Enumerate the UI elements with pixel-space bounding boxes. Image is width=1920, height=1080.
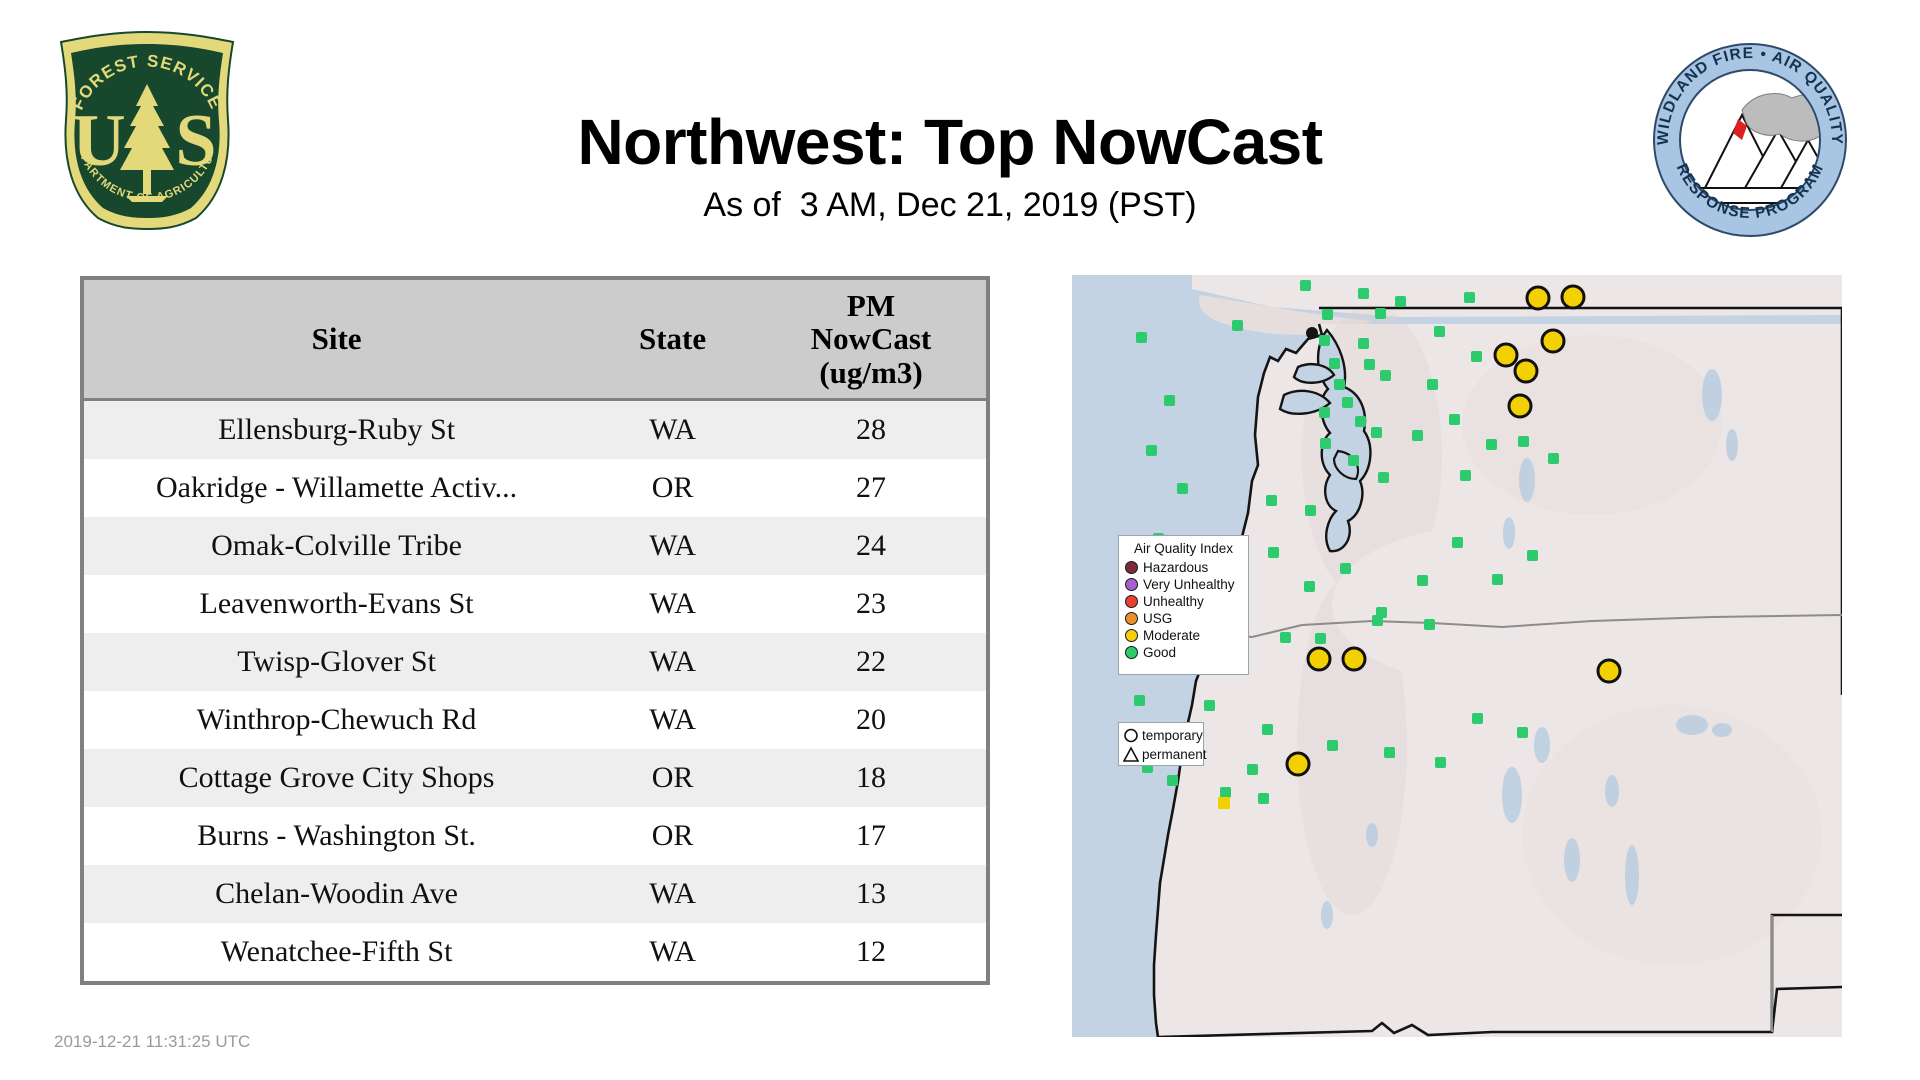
aqi-legend-item: USG: [1125, 610, 1242, 627]
table-header-row: Site State PM NowCast (ug/m3): [84, 280, 986, 400]
cell-site: Wenatchee-Fifth St: [84, 923, 589, 981]
good-monitor-marker[interactable]: [1204, 700, 1215, 711]
monitor-map[interactable]: Air Quality Index HazardousVery Unhealth…: [1072, 275, 1842, 1037]
table-row[interactable]: Chelan-Woodin AveWA13: [84, 865, 986, 923]
good-monitor-marker[interactable]: [1266, 495, 1277, 506]
good-monitor-marker[interactable]: [1518, 436, 1529, 447]
symbol-legend-temporary-label: temporary: [1142, 728, 1203, 743]
good-monitor-marker[interactable]: [1376, 607, 1387, 618]
aqi-legend-item: Hazardous: [1125, 559, 1242, 576]
table-row[interactable]: Burns - Washington St.OR17: [84, 807, 986, 865]
cell-state: OR: [589, 807, 756, 865]
page-subtitle: As of 3 AM, Dec 21, 2019 (PST): [260, 186, 1640, 225]
aqi-legend-label: Very Unhealthy: [1143, 576, 1235, 593]
moderate-monitor-marker[interactable]: [1542, 330, 1564, 352]
cell-value: 17: [756, 807, 986, 865]
good-monitor-marker[interactable]: [1417, 575, 1428, 586]
moderate-monitor-marker[interactable]: [1562, 286, 1584, 308]
cell-state: WA: [589, 691, 756, 749]
page-header: FOREST SERVICE DEPARTMENT OF AGRICULTURE…: [0, 0, 1920, 262]
column-header-state: State: [589, 280, 756, 400]
table-header: Site State PM NowCast (ug/m3): [84, 280, 986, 400]
cell-state: WA: [589, 400, 756, 460]
column-header-pm-line2: NowCast: [756, 322, 986, 355]
table-row[interactable]: Omak-Colville TribeWA24: [84, 517, 986, 575]
good-monitor-marker[interactable]: [1434, 326, 1445, 337]
cell-site: Burns - Washington St.: [84, 807, 589, 865]
good-monitor-marker[interactable]: [1146, 445, 1157, 456]
cell-value: 28: [756, 400, 986, 460]
aqi-swatch-icon: [1125, 595, 1138, 608]
good-monitor-marker[interactable]: [1471, 351, 1482, 362]
good-monitor-marker[interactable]: [1449, 414, 1460, 425]
good-monitor-marker[interactable]: [1327, 740, 1338, 751]
good-monitor-marker[interactable]: [1232, 320, 1243, 331]
column-header-pm-line1: PM: [756, 289, 986, 322]
cell-value: 22: [756, 633, 986, 691]
column-header-pm-nowcast: PM NowCast (ug/m3): [756, 280, 986, 400]
table-row[interactable]: Leavenworth-Evans StWA23: [84, 575, 986, 633]
good-monitor-marker[interactable]: [1358, 338, 1369, 349]
shield-letter-u: U: [72, 100, 125, 182]
good-monitor-marker[interactable]: [1320, 438, 1331, 449]
cell-site: Omak-Colville Tribe: [84, 517, 589, 575]
good-monitor-marker[interactable]: [1220, 787, 1231, 798]
moderate-small-marker[interactable]: [1218, 797, 1230, 809]
good-monitor-marker[interactable]: [1412, 430, 1423, 441]
cell-site: Twisp-Glover St: [84, 633, 589, 691]
aqi-legend-label: Good: [1143, 644, 1176, 661]
aqi-legend-label: Unhealthy: [1143, 593, 1204, 610]
table-row[interactable]: Twisp-Glover StWA22: [84, 633, 986, 691]
good-monitor-marker[interactable]: [1305, 505, 1316, 516]
symbol-legend-permanent: permanent: [1123, 745, 1199, 764]
moderate-monitor-marker[interactable]: [1495, 344, 1517, 366]
cell-state: WA: [589, 923, 756, 981]
cell-value: 27: [756, 459, 986, 517]
moderate-monitor-marker[interactable]: [1527, 287, 1549, 309]
good-monitor-marker[interactable]: [1492, 574, 1503, 585]
cell-state: OR: [589, 749, 756, 807]
good-monitor-marker[interactable]: [1136, 332, 1147, 343]
aqi-swatch-icon: [1125, 561, 1138, 574]
good-monitor-marker[interactable]: [1134, 695, 1145, 706]
good-monitor-marker[interactable]: [1334, 379, 1345, 390]
good-monitor-marker[interactable]: [1247, 764, 1258, 775]
moderate-monitor-marker[interactable]: [1308, 648, 1330, 670]
aqi-legend-label: USG: [1143, 610, 1172, 627]
good-monitor-marker[interactable]: [1364, 359, 1375, 370]
column-header-site: Site: [84, 280, 589, 400]
good-monitor-marker[interactable]: [1268, 547, 1279, 558]
cell-site: Ellensburg-Ruby St: [84, 400, 589, 460]
aqi-legend-item: Very Unhealthy: [1125, 576, 1242, 593]
table-row[interactable]: Wenatchee-Fifth StWA12: [84, 923, 986, 981]
table-body: Ellensburg-Ruby StWA28Oakridge - Willame…: [84, 400, 986, 982]
cell-value: 12: [756, 923, 986, 981]
cell-site: Leavenworth-Evans St: [84, 575, 589, 633]
cell-value: 24: [756, 517, 986, 575]
moderate-monitor-marker[interactable]: [1343, 648, 1365, 670]
moderate-monitor-marker[interactable]: [1509, 395, 1531, 417]
cell-site: Winthrop-Chewuch Rd: [84, 691, 589, 749]
good-monitor-marker[interactable]: [1395, 296, 1406, 307]
cell-state: WA: [589, 865, 756, 923]
aqi-legend-label: Hazardous: [1143, 559, 1208, 576]
cell-site: Chelan-Woodin Ave: [84, 865, 589, 923]
cell-value: 18: [756, 749, 986, 807]
cell-state: WA: [589, 517, 756, 575]
good-monitor-marker[interactable]: [1322, 309, 1333, 320]
aqi-legend: Air Quality Index HazardousVery Unhealth…: [1118, 535, 1249, 675]
good-monitor-marker[interactable]: [1319, 407, 1330, 418]
triangle-outline-icon: [1123, 746, 1139, 763]
cell-site: Cottage Grove City Shops: [84, 749, 589, 807]
circular-logo-icon: WILDLAND FIRE • AIR QUALITY RESPONSE PRO…: [1650, 40, 1850, 240]
shield-letter-s: S: [175, 100, 216, 182]
wildland-fire-air-quality-logo: WILDLAND FIRE • AIR QUALITY RESPONSE PRO…: [1650, 40, 1850, 240]
cell-value: 13: [756, 865, 986, 923]
good-monitor-marker[interactable]: [1460, 470, 1471, 481]
column-header-pm-line3: (ug/m3): [756, 356, 986, 389]
good-monitor-marker[interactable]: [1358, 288, 1369, 299]
good-monitor-marker[interactable]: [1384, 747, 1395, 758]
good-monitor-marker[interactable]: [1355, 416, 1366, 427]
good-monitor-marker[interactable]: [1435, 757, 1446, 768]
good-monitor-marker[interactable]: [1452, 537, 1463, 548]
cell-value: 23: [756, 575, 986, 633]
symbol-legend: temporary permanent: [1118, 722, 1204, 766]
good-monitor-marker[interactable]: [1167, 775, 1178, 786]
good-monitor-marker[interactable]: [1427, 379, 1438, 390]
moderate-monitor-marker[interactable]: [1287, 753, 1309, 775]
aqi-legend-title: Air Quality Index: [1125, 541, 1242, 556]
good-monitor-marker[interactable]: [1464, 292, 1475, 303]
aqi-legend-item: Good: [1125, 644, 1242, 661]
good-monitor-marker[interactable]: [1380, 370, 1391, 381]
good-monitor-marker[interactable]: [1486, 439, 1497, 450]
aqi-legend-item: Unhealthy: [1125, 593, 1242, 610]
table-row[interactable]: Winthrop-Chewuch RdWA20: [84, 691, 986, 749]
cell-state: WA: [589, 633, 756, 691]
aqi-swatch-icon: [1125, 629, 1138, 642]
table-row[interactable]: Ellensburg-Ruby StWA28: [84, 400, 986, 460]
symbol-legend-temporary: temporary: [1123, 726, 1199, 745]
good-monitor-marker[interactable]: [1517, 727, 1528, 738]
good-monitor-marker[interactable]: [1472, 713, 1483, 724]
circle-outline-icon: [1123, 727, 1139, 744]
good-monitor-marker[interactable]: [1262, 724, 1273, 735]
aqi-legend-label: Moderate: [1143, 627, 1200, 644]
good-monitor-marker[interactable]: [1424, 619, 1435, 630]
page-title: Northwest: Top NowCast: [260, 105, 1640, 179]
aqi-legend-item: Moderate: [1125, 627, 1242, 644]
cell-value: 20: [756, 691, 986, 749]
good-monitor-marker[interactable]: [1378, 472, 1389, 483]
cell-site: Oakridge - Willamette Activ...: [84, 459, 589, 517]
good-monitor-marker[interactable]: [1340, 563, 1351, 574]
symbol-legend-permanent-label: permanent: [1142, 747, 1207, 762]
good-monitor-marker[interactable]: [1371, 427, 1382, 438]
moderate-monitor-marker[interactable]: [1515, 360, 1537, 382]
good-monitor-marker[interactable]: [1258, 793, 1269, 804]
good-monitor-marker[interactable]: [1527, 550, 1538, 561]
good-monitor-marker[interactable]: [1315, 633, 1326, 644]
table-row[interactable]: Oakridge - Willamette Activ...OR27: [84, 459, 986, 517]
good-monitor-marker[interactable]: [1319, 335, 1330, 346]
good-monitor-marker[interactable]: [1329, 358, 1340, 369]
aqi-swatch-icon: [1125, 646, 1138, 659]
cell-state: OR: [589, 459, 756, 517]
good-monitor-marker[interactable]: [1177, 483, 1188, 494]
shield-icon: FOREST SERVICE DEPARTMENT OF AGRICULTURE…: [52, 28, 242, 233]
good-monitor-marker[interactable]: [1304, 581, 1315, 592]
good-monitor-marker[interactable]: [1300, 280, 1311, 291]
footer-timestamp: 2019-12-21 11:31:25 UTC: [54, 1032, 250, 1052]
cell-state: WA: [589, 575, 756, 633]
good-monitor-marker[interactable]: [1280, 632, 1291, 643]
good-monitor-marker[interactable]: [1348, 455, 1359, 466]
table-row[interactable]: Cottage Grove City ShopsOR18: [84, 749, 986, 807]
good-monitor-marker[interactable]: [1342, 397, 1353, 408]
nowcast-table: Site State PM NowCast (ug/m3) Ellensburg…: [84, 280, 986, 981]
good-monitor-marker[interactable]: [1548, 453, 1559, 464]
good-monitor-marker[interactable]: [1164, 395, 1175, 406]
usda-forest-service-shield-logo: FOREST SERVICE DEPARTMENT OF AGRICULTURE…: [52, 28, 242, 233]
aqi-swatch-icon: [1125, 578, 1138, 591]
nowcast-table-panel: Site State PM NowCast (ug/m3) Ellensburg…: [80, 276, 990, 985]
moderate-monitor-marker[interactable]: [1598, 660, 1620, 682]
good-monitor-marker[interactable]: [1375, 308, 1386, 319]
aqi-swatch-icon: [1125, 612, 1138, 625]
